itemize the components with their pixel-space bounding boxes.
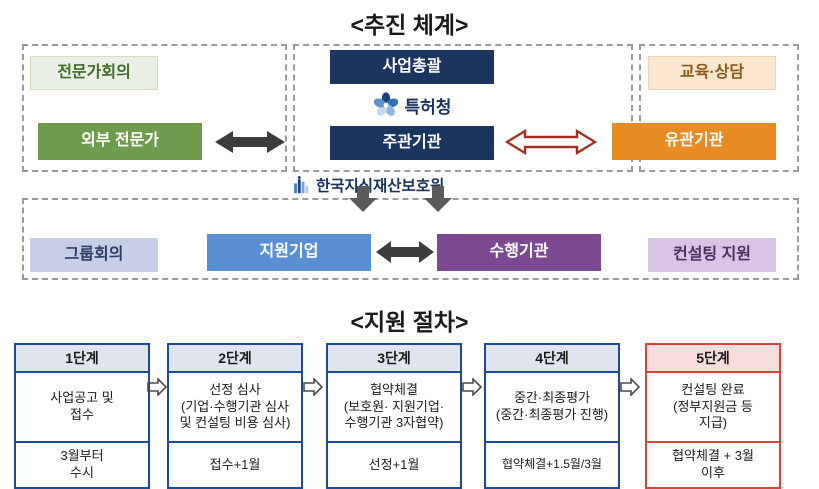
chip-support-company: 지원기업 <box>207 234 371 271</box>
process-step-3: 3단계 협약체결 (보호원· 지원기업· 수행기관 3자협약) 선정+1월 <box>326 343 462 489</box>
chip-edu-consult: 교육·상담 <box>648 56 776 90</box>
chip-related-org: 유관기관 <box>612 123 776 160</box>
step-5-foot: 협약체결 + 3월 이후 <box>647 441 779 487</box>
promotion-system-title: <추진 체계> <box>0 6 819 40</box>
kipa-emblem-icon <box>293 176 310 194</box>
arrow-down-exec-icon <box>420 186 480 212</box>
kipa-row: 한국지식재산보호원 <box>293 174 543 196</box>
chip-expert-meeting: 전문가회의 <box>30 56 158 90</box>
step-1-foot: 3월부터 수시 <box>16 441 148 487</box>
step-2-body: 선정 심사 (기업·수행기관 심사 및 컨설팅 비용 심사) <box>169 371 301 441</box>
step-4-head: 4단계 <box>486 345 618 371</box>
support-process-title: <지원 절차> <box>0 303 819 337</box>
step-2-head: 2단계 <box>169 345 301 371</box>
step-arrow-3-icon <box>462 378 482 396</box>
chip-exec-org: 수행기관 <box>437 234 601 271</box>
step-arrow-1-icon <box>147 378 167 396</box>
step-3-body: 협약체결 (보호원· 지원기업· 수행기관 3자협약) <box>328 371 460 441</box>
step-4-foot: 협약체결+1.5월/3월 <box>486 441 618 487</box>
arrow-down-support-icon <box>345 186 405 212</box>
chip-host-org: 주관기관 <box>330 126 494 160</box>
step-1-head: 1단계 <box>16 345 148 371</box>
diagram-page: <추진 체계> 전문가회의 외부 전문가 사업총괄 특허청 주관기관 <box>0 0 819 482</box>
arrow-expert-to-host-icon <box>215 128 285 156</box>
chip-group-meeting: 그룹회의 <box>30 238 158 272</box>
chip-consulting-support: 컨설팅 지원 <box>648 238 776 272</box>
process-step-1: 1단계 사업공고 및 접수 3월부터 수시 <box>14 343 150 489</box>
chip-outside-expert: 외부 전문가 <box>38 123 202 160</box>
step-2-foot: 접수+1월 <box>169 441 301 487</box>
arrow-company-exec-icon <box>376 238 434 266</box>
step-arrow-2-icon <box>303 378 323 396</box>
step-1-body: 사업공고 및 접수 <box>16 371 148 441</box>
kipo-emblem-icon <box>373 92 399 118</box>
process-step-5: 5단계 컨설팅 완료 (정부지원금 등 지급) 협약체결 + 3월 이후 <box>645 343 781 489</box>
step-5-body: 컨설팅 완료 (정부지원금 등 지급) <box>647 371 779 441</box>
step-4-body: 중간·최종평가 (중간·최종평가 진행) <box>486 371 618 441</box>
process-step-4: 4단계 중간·최종평가 (중간·최종평가 진행) 협약체결+1.5월/3월 <box>484 343 620 489</box>
process-step-2: 2단계 선정 심사 (기업·수행기관 심사 및 컨설팅 비용 심사) 접수+1월 <box>167 343 303 489</box>
arrow-host-to-related-icon <box>505 128 597 156</box>
kipo-row: 특허청 <box>330 88 494 122</box>
chip-project-lead: 사업총괄 <box>330 50 494 84</box>
step-5-head: 5단계 <box>647 345 779 371</box>
kipo-label: 특허청 <box>405 93 452 118</box>
step-arrow-4-icon <box>620 378 640 396</box>
step-3-head: 3단계 <box>328 345 460 371</box>
step-3-foot: 선정+1월 <box>328 441 460 487</box>
